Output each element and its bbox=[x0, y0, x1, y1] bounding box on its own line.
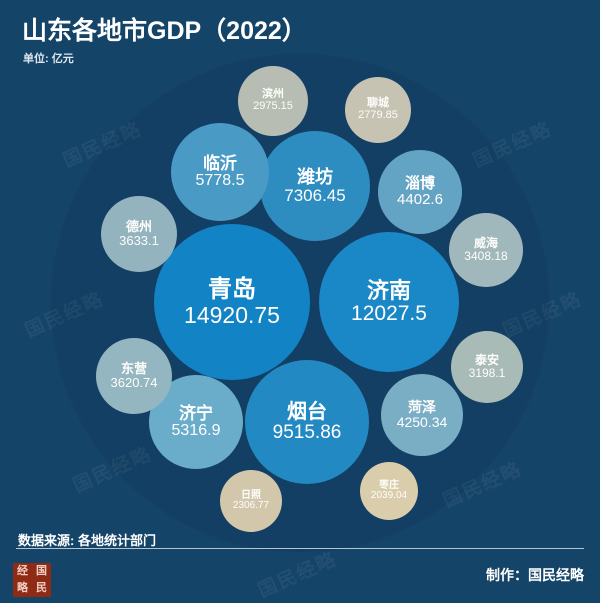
bubble-潍坊[interactable]: 潍坊7306.45 bbox=[260, 131, 370, 241]
bubble-东营[interactable]: 东营3620.74 bbox=[96, 338, 172, 414]
bubble-value-label: 9515.86 bbox=[273, 423, 342, 443]
bubble-value-label: 2306.77 bbox=[233, 501, 269, 512]
page-title: 山东各地市GDP（2022） bbox=[22, 11, 307, 47]
bubble-淄博[interactable]: 淄博4402.6 bbox=[378, 150, 462, 234]
unit-label: 单位: 亿元 bbox=[23, 50, 74, 66]
bubble-烟台[interactable]: 烟台9515.86 bbox=[245, 360, 369, 484]
bubble-value-label: 3198.1 bbox=[469, 367, 506, 380]
bubble-泰安[interactable]: 泰安3198.1 bbox=[451, 331, 523, 403]
bubble-value-label: 4250.34 bbox=[397, 415, 448, 430]
seal-char: 经 bbox=[17, 566, 28, 577]
bubble-city-label: 潍坊 bbox=[297, 168, 333, 187]
bubble-value-label: 5778.5 bbox=[196, 173, 245, 190]
watermark-text: 国民经略 bbox=[468, 114, 556, 173]
bubble-临沂[interactable]: 临沂5778.5 bbox=[171, 123, 269, 221]
bubble-value-label: 7306.45 bbox=[284, 187, 345, 205]
bubble-value-label: 14920.75 bbox=[184, 303, 280, 327]
bubble-青岛[interactable]: 青岛14920.75 bbox=[154, 224, 310, 380]
bubble-济南[interactable]: 济南12027.5 bbox=[319, 232, 459, 372]
bubble-city-label: 德州 bbox=[126, 220, 152, 234]
bubble-value-label: 4402.6 bbox=[397, 192, 443, 208]
chart-canvas: 国民经略国民经略国民经略国民经略国民经略国民经略国民经略 山东各地市GDP（20… bbox=[0, 0, 600, 603]
bubble-city-label: 青岛 bbox=[208, 277, 256, 302]
data-source-label: 数据来源: 各地统计部门 bbox=[18, 530, 156, 549]
bubble-日照[interactable]: 日照2306.77 bbox=[220, 470, 282, 532]
bubble-value-label: 3633.1 bbox=[119, 234, 159, 248]
bubble-city-label: 济南 bbox=[367, 279, 411, 302]
seal-char: 国 bbox=[36, 566, 47, 577]
bubble-聊城[interactable]: 聊城2779.85 bbox=[345, 77, 411, 143]
bubble-德州[interactable]: 德州3633.1 bbox=[101, 196, 177, 272]
bubble-value-label: 2779.85 bbox=[358, 110, 398, 122]
bubble-value-label: 3408.18 bbox=[464, 250, 507, 263]
bubble-city-label: 淄博 bbox=[405, 176, 435, 192]
bubble-city-label: 菏泽 bbox=[408, 400, 436, 415]
bubble-威海[interactable]: 威海3408.18 bbox=[449, 213, 523, 287]
bubble-value-label: 2975.15 bbox=[253, 101, 293, 113]
bubble-city-label: 烟台 bbox=[287, 402, 327, 423]
bubble-value-label: 2039.04 bbox=[371, 491, 407, 502]
bubble-value-label: 12027.5 bbox=[351, 303, 427, 325]
bubble-value-label: 5316.9 bbox=[172, 423, 221, 440]
bubble-枣庄[interactable]: 枣庄2039.04 bbox=[360, 462, 418, 520]
bubble-菏泽[interactable]: 菏泽4250.34 bbox=[381, 374, 463, 456]
bubble-city-label: 东营 bbox=[121, 362, 147, 376]
bubble-city-label: 临沂 bbox=[203, 155, 237, 173]
bubble-city-label: 济宁 bbox=[179, 405, 213, 423]
bubble-滨州[interactable]: 滨州2975.15 bbox=[238, 66, 308, 136]
seal-char: 略 bbox=[17, 583, 28, 594]
bubble-value-label: 3620.74 bbox=[111, 376, 158, 390]
credit-label: 制作：国民经略 bbox=[486, 565, 584, 585]
seal-char: 民 bbox=[36, 583, 47, 594]
brand-seal-logo: 经国略民 bbox=[13, 563, 51, 597]
